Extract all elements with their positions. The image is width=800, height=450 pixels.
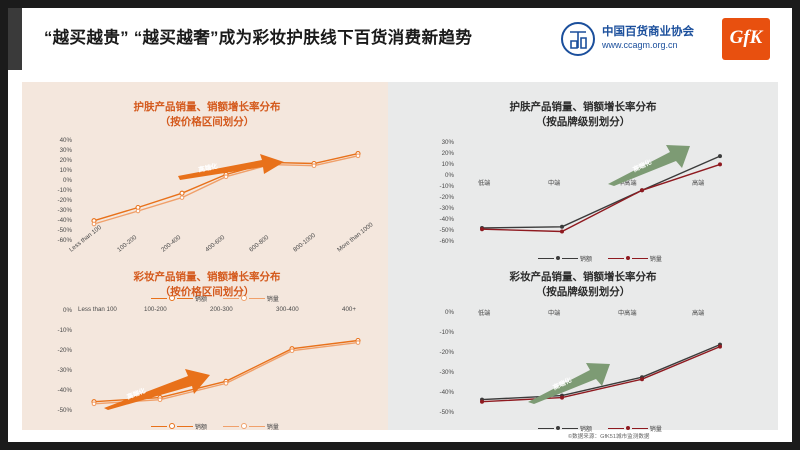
- ytick: -10%: [46, 327, 72, 334]
- slide-canvas: “越买越贵” “越买越奢”成为彩妆护肤线下百货消费新趋势 中国百货商业协会 ww…: [8, 8, 792, 442]
- ytick: -30%: [46, 207, 72, 214]
- xtick: 100-200: [144, 306, 167, 313]
- chart-makeup-price: 0% -10% -20% -30% -40% -50% Less than 10…: [46, 306, 376, 426]
- chart-title-skincare-price: 护肤产品销量、销额增长率分布 （按价格区间划分）: [82, 100, 332, 130]
- legend-label: 销量: [267, 424, 279, 431]
- chart-skincare-price: 40% 30% 20% 10% 0% -10% -20% -30% -40% -…: [46, 136, 376, 256]
- ccagm-emblem-icon: [560, 21, 596, 57]
- ytick: -30%: [46, 367, 72, 374]
- panel-brand-charts: 护肤产品销量、销额增长率分布 （按品牌级别划分） 30% 20% 10% 0% …: [388, 82, 778, 430]
- ytick: 0%: [46, 177, 72, 184]
- xtick: 200-300: [210, 306, 233, 313]
- ytick: -40%: [430, 389, 454, 396]
- ccagm-url: www.ccagm.org.cn: [602, 40, 678, 50]
- ytick: -40%: [46, 387, 72, 394]
- chart-legend: 销额 销量: [151, 422, 293, 431]
- panel-price-charts: 护肤产品销量、销额增长率分布 （按价格区间划分） 40% 30% 20% 10%…: [22, 82, 388, 430]
- legend-item-amount: 销额: [151, 422, 207, 431]
- page-title: “越买越贵” “越买越奢”成为彩妆护肤线下百货消费新趋势: [44, 24, 472, 48]
- ytick: 0%: [430, 172, 454, 179]
- legend-label: 销额: [580, 256, 592, 263]
- chart-title-makeup-brand: 彩妆产品销量、销额增长率分布 （按品牌级别划分）: [458, 270, 708, 300]
- ytick: -50%: [430, 227, 454, 234]
- ccagm-logo: 中国百货商业协会 www.ccagm.org.cn: [560, 20, 710, 60]
- gfk-logo-text: GfK: [722, 27, 770, 49]
- source-footnote: ©数据来源：GfK51城市监测数据: [568, 432, 650, 440]
- ytick: -10%: [430, 329, 454, 336]
- ytick: 20%: [430, 150, 454, 157]
- chart-title-skincare-brand: 护肤产品销量、销额增长率分布 （按品牌级别划分）: [458, 100, 708, 130]
- slide-header: “越买越贵” “越买越奢”成为彩妆护肤线下百货消费新趋势 中国百货商业协会 ww…: [8, 8, 792, 70]
- trend-arrow-premium: [176, 154, 286, 180]
- ytick: -60%: [46, 237, 72, 244]
- chart-title-makeup-price: 彩妆产品销量、销额增长率分布 （按价格区间划分）: [82, 270, 332, 300]
- ytick: 0%: [430, 309, 454, 316]
- xtick: 400+: [342, 306, 356, 313]
- legend-item-volume: 销量: [608, 254, 662, 263]
- ytick: -50%: [46, 407, 72, 414]
- ytick: -10%: [430, 183, 454, 190]
- ytick: -30%: [430, 205, 454, 212]
- ytick: 20%: [46, 157, 72, 164]
- ytick: -50%: [46, 227, 72, 234]
- ytick: -10%: [46, 187, 72, 194]
- ytick: 30%: [430, 139, 454, 146]
- ytick: -40%: [430, 216, 454, 223]
- header-accent-bar: [8, 8, 22, 70]
- ytick: 0%: [46, 307, 72, 314]
- chart-plot-area: [458, 142, 738, 248]
- ytick: -20%: [46, 197, 72, 204]
- ytick: 40%: [46, 137, 72, 144]
- chart-makeup-brand: 0% -10% -20% -30% -40% -50% 低端 中端 中高端 高端…: [430, 308, 760, 428]
- ytick: -60%: [430, 238, 454, 245]
- chart-legend: 销额 销量: [538, 254, 676, 263]
- ytick: -20%: [46, 347, 72, 354]
- chart-plot-area: [76, 136, 366, 246]
- legend-item-amount: 销额: [538, 254, 592, 263]
- ccagm-name-cn: 中国百货商业协会: [602, 23, 694, 39]
- legend-label: 销量: [650, 256, 662, 263]
- legend-label: 销量: [650, 426, 662, 433]
- xtick: 300-400: [276, 306, 299, 313]
- ytick: 10%: [46, 167, 72, 174]
- gfk-logo: GfK: [722, 18, 770, 60]
- trend-arrow-premium: [102, 364, 212, 410]
- chart-skincare-brand: 30% 20% 10% 0% -10% -20% -30% -40% -50% …: [430, 138, 760, 258]
- ytick: -30%: [430, 369, 454, 376]
- ytick: -50%: [430, 409, 454, 416]
- ytick: 10%: [430, 161, 454, 168]
- legend-label: 销额: [195, 424, 207, 431]
- ytick: -20%: [430, 349, 454, 356]
- ytick: 30%: [46, 147, 72, 154]
- ytick: -20%: [430, 194, 454, 201]
- legend-item-volume: 销量: [223, 422, 279, 431]
- xtick: Less than 100: [78, 306, 117, 313]
- ytick: -40%: [46, 217, 72, 224]
